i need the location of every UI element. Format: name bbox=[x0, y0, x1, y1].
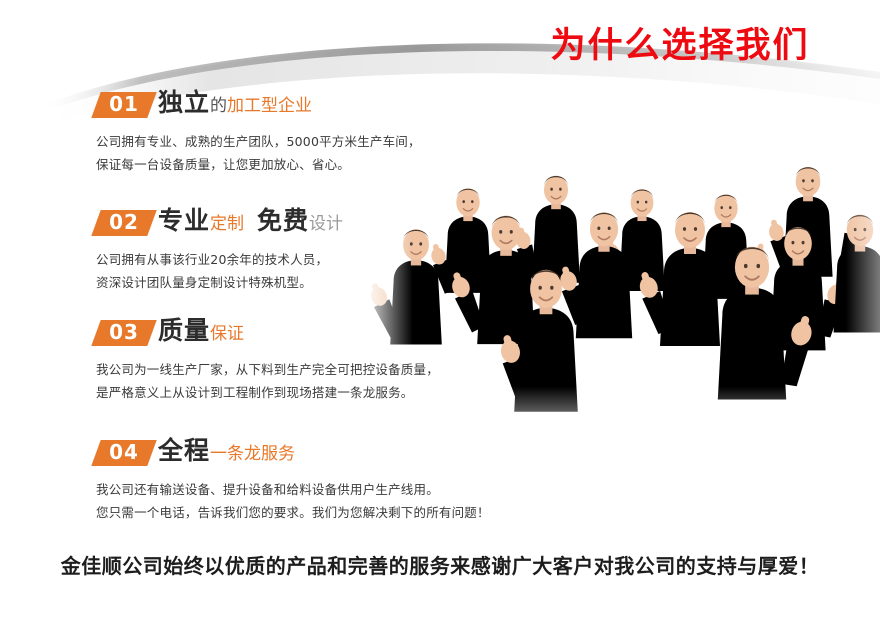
feature-number: 04 bbox=[96, 439, 152, 465]
feature-title-main: 专业 bbox=[158, 206, 210, 235]
feature-number: 01 bbox=[96, 91, 152, 117]
feature-number: 03 bbox=[96, 319, 152, 345]
feature-body-line: 我公司还有输送设备、提升设备和给料设备供用户生产线用。 bbox=[96, 478, 476, 501]
feature-title-main-2: 免费 bbox=[257, 206, 309, 235]
feature-title: 全程一条龙服务 bbox=[158, 434, 295, 471]
feature-body-line: 您只需一个电话，告诉我们您的要求。我们为您解决剩下的所有问题！ bbox=[96, 501, 476, 524]
feature-title: 专业定制免费设计 bbox=[158, 204, 343, 241]
feature-heading: 01 独立的加工型企业 bbox=[96, 88, 476, 122]
feature-body-line: 是严格意义上从设计到工程制作到现场搭建一条龙服务。 bbox=[96, 381, 476, 404]
feature-title: 独立的加工型企业 bbox=[158, 86, 312, 123]
feature-body: 我公司还有输送设备、提升设备和给料设备供用户生产线用。 您只需一个电话，告诉我们… bbox=[96, 478, 476, 524]
feature-title-accent: 保证 bbox=[210, 324, 244, 344]
feature-body-line: 资深设计团队量身定制设计特殊机型。 bbox=[96, 271, 476, 294]
feature-item-01: 01 独立的加工型企业 公司拥有专业、成熟的生产团队，5000平方米生产车间， … bbox=[96, 88, 476, 176]
feature-heading: 03 质量保证 bbox=[96, 316, 476, 350]
feature-body-line: 公司拥有专业、成熟的生产团队，5000平方米生产车间， bbox=[96, 130, 476, 153]
feature-body-line: 保证每一台设备质量，让您更加放心、省心。 bbox=[96, 153, 476, 176]
feature-title-accent: 加工型企业 bbox=[227, 96, 312, 116]
feature-title-particle: 的 bbox=[210, 96, 227, 116]
footer-slogan: 金佳顺公司始终以优质的产品和完善的服务来感谢广大客户对我公司的支持与厚爱！ bbox=[0, 550, 880, 579]
feature-body: 我公司为一线生产厂家，从下料到生产完全可把控设备质量， 是严格意义上从设计到工程… bbox=[96, 358, 476, 404]
feature-body: 公司拥有专业、成熟的生产团队，5000平方米生产车间， 保证每一台设备质量，让您… bbox=[96, 130, 476, 176]
team-thumbs-up-photo bbox=[360, 140, 880, 456]
feature-heading: 02 专业定制免费设计 bbox=[96, 206, 476, 240]
feature-title-muted: 设计 bbox=[309, 214, 343, 234]
feature-title-main: 独立 bbox=[158, 88, 210, 117]
feature-title-accent: 一条龙服务 bbox=[210, 444, 295, 464]
feature-title: 质量保证 bbox=[158, 314, 244, 351]
feature-title-main: 全程 bbox=[158, 436, 210, 465]
feature-body-line: 我公司为一线生产厂家，从下料到生产完全可把控设备质量， bbox=[96, 358, 476, 381]
feature-body: 公司拥有从事该行业20余年的技术人员， 资深设计团队量身定制设计特殊机型。 bbox=[96, 248, 476, 294]
feature-title-main: 质量 bbox=[158, 316, 210, 345]
feature-item-03: 03 质量保证 我公司为一线生产厂家，从下料到生产完全可把控设备质量， 是严格意… bbox=[96, 316, 476, 404]
feature-title-accent: 定制 bbox=[210, 214, 244, 234]
feature-item-04: 04 全程一条龙服务 我公司还有输送设备、提升设备和给料设备供用户生产线用。 您… bbox=[96, 436, 476, 524]
page-title: 为什么选择我们 bbox=[500, 24, 860, 68]
promo-banner: 为什么选择我们 bbox=[0, 0, 880, 626]
feature-heading: 04 全程一条龙服务 bbox=[96, 436, 476, 470]
feature-item-02: 02 专业定制免费设计 公司拥有从事该行业20余年的技术人员， 资深设计团队量身… bbox=[96, 206, 476, 294]
feature-number: 02 bbox=[96, 209, 152, 235]
feature-body-line: 公司拥有从事该行业20余年的技术人员， bbox=[96, 248, 476, 271]
